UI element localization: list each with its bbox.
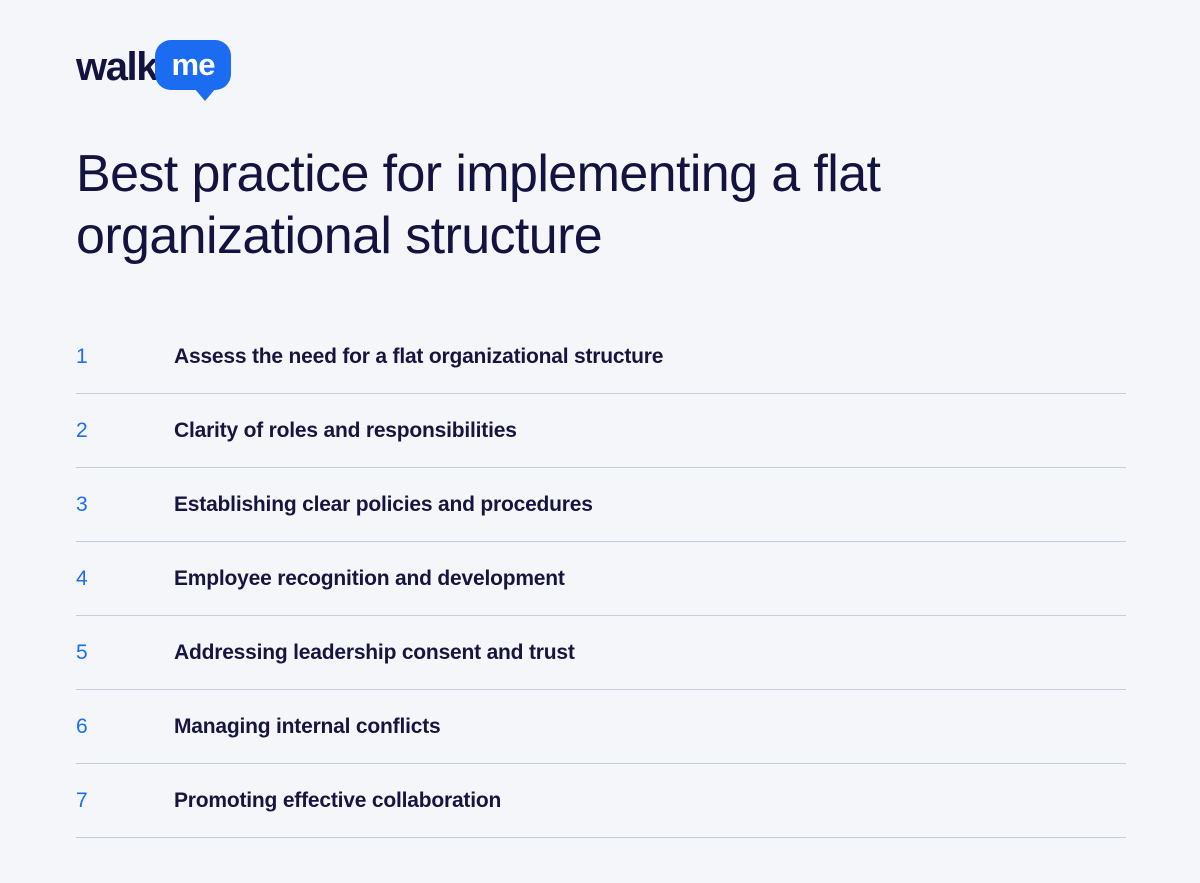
infographic-page: walk me Best practice for implementing a… xyxy=(0,0,1200,883)
list-item-label: Assess the need for a flat organizationa… xyxy=(174,344,663,369)
list-item-number: 2 xyxy=(76,420,174,441)
logo-wordmark-walk: walk xyxy=(76,40,157,92)
list-item-number: 4 xyxy=(76,568,174,589)
list-item-label: Establishing clear policies and procedur… xyxy=(174,492,593,517)
list-item-number: 7 xyxy=(76,790,174,811)
logo-bubble-tail-icon xyxy=(194,88,216,101)
list-item-number: 1 xyxy=(76,346,174,367)
list-item[interactable]: 7 Promoting effective collaboration xyxy=(76,764,1126,838)
list-item[interactable]: 6 Managing internal conflicts xyxy=(76,690,1126,764)
list-item[interactable]: 1 Assess the need for a flat organizatio… xyxy=(76,320,1126,394)
list-item-label: Employee recognition and development xyxy=(174,566,565,591)
list-item-label: Promoting effective collaboration xyxy=(174,788,501,813)
list-item-label: Managing internal conflicts xyxy=(174,714,440,739)
list-item[interactable]: 5 Addressing leadership consent and trus… xyxy=(76,616,1126,690)
list-item-number: 3 xyxy=(76,494,174,515)
best-practice-list: 1 Assess the need for a flat organizatio… xyxy=(76,320,1126,838)
list-item[interactable]: 4 Employee recognition and development xyxy=(76,542,1126,616)
logo-wordmark-me: me xyxy=(172,49,215,82)
logo-speech-bubble-icon: me xyxy=(155,40,231,90)
list-item-number: 6 xyxy=(76,716,174,737)
page-title: Best practice for implementing a flat or… xyxy=(76,143,1116,267)
list-item[interactable]: 2 Clarity of roles and responsibilities xyxy=(76,394,1126,468)
list-item-label: Clarity of roles and responsibilities xyxy=(174,418,517,443)
walkme-logo[interactable]: walk me xyxy=(76,40,231,100)
list-item-label: Addressing leadership consent and trust xyxy=(174,640,575,665)
list-item-number: 5 xyxy=(76,642,174,663)
list-item[interactable]: 3 Establishing clear policies and proced… xyxy=(76,468,1126,542)
